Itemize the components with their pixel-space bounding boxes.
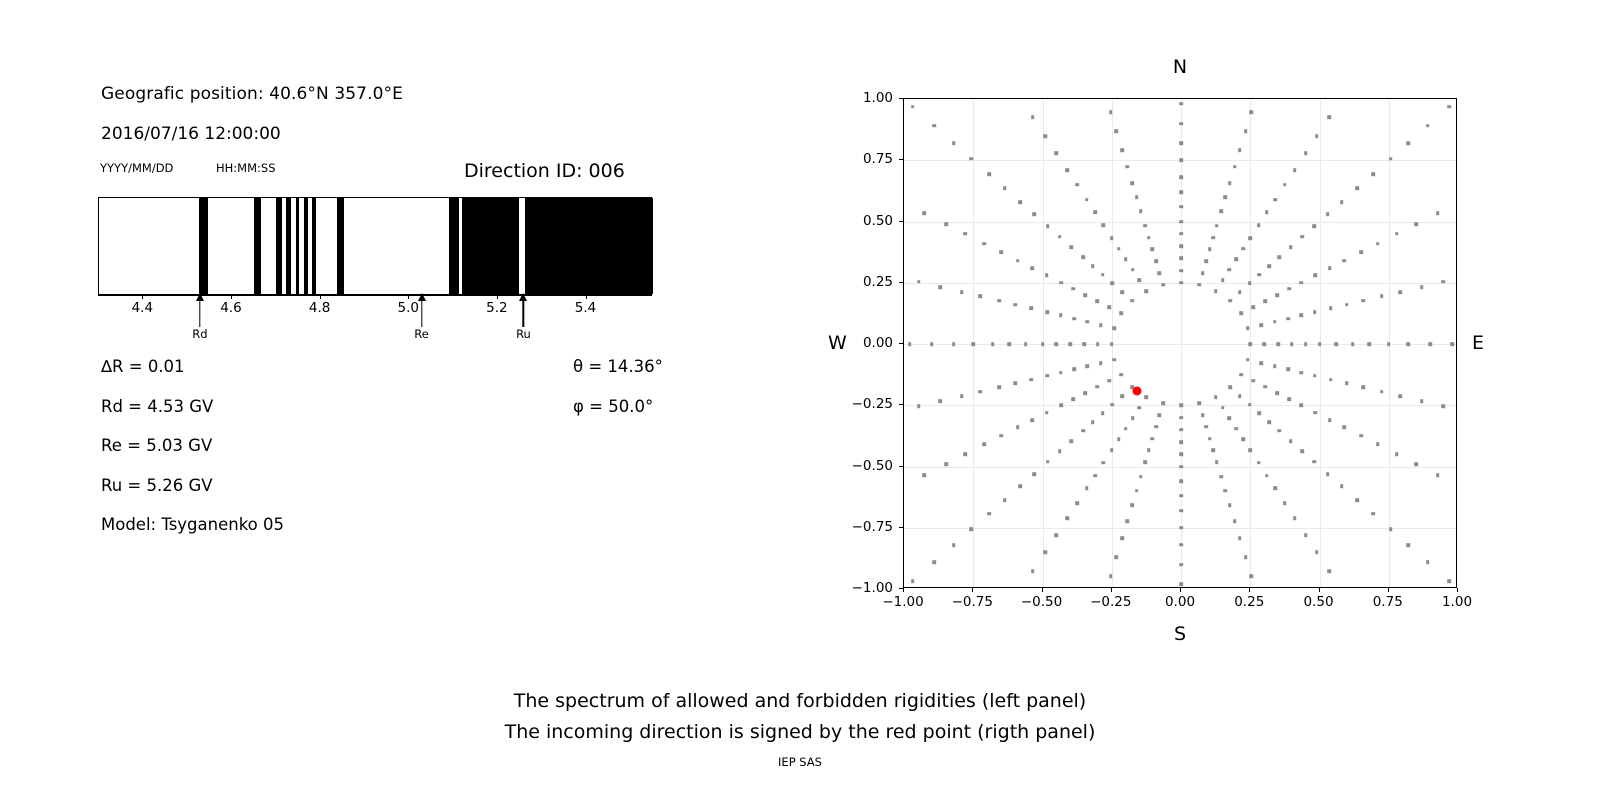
direction-dot [1117, 247, 1121, 251]
direction-dot [1112, 358, 1116, 362]
x-tick-label: 0.25 [1234, 594, 1264, 610]
direction-dot [1119, 373, 1123, 377]
direction-dot [1289, 439, 1293, 443]
direction-dot [1238, 394, 1242, 398]
direction-dot [1030, 418, 1034, 422]
direction-dot [1215, 224, 1219, 228]
x-tick [408, 295, 409, 299]
direction-dot [1058, 235, 1062, 239]
direction-dot [1045, 274, 1049, 278]
direction-dot [1016, 426, 1020, 430]
direction-dot [1312, 460, 1316, 464]
compass-label-south: S [1174, 623, 1186, 645]
y-tick-label: −0.50 [841, 458, 893, 474]
polar-scatter-plot [903, 98, 1457, 588]
direction-dot [1130, 181, 1134, 185]
marker-label: Ru [516, 327, 531, 341]
y-tick [899, 98, 903, 99]
marker-label: Rd [192, 327, 207, 341]
x-tick-label: 4.4 [132, 300, 153, 316]
x-tick-label: −1.00 [882, 594, 923, 610]
direction-dot [952, 141, 956, 145]
direction-dot [1143, 461, 1147, 465]
direction-dot [1228, 386, 1232, 390]
direction-dot [970, 157, 974, 161]
direction-dot [1248, 403, 1252, 407]
y-tick-label: 0.75 [841, 151, 893, 167]
direction-dot [1238, 536, 1242, 540]
direction-dot [1204, 259, 1208, 263]
direction-dot [1145, 395, 1149, 399]
direction-dot [1179, 269, 1183, 273]
direction-dot [1248, 448, 1252, 452]
forbidden-band [286, 198, 291, 294]
direction-dot [1329, 307, 1333, 311]
direction-dot [1179, 465, 1183, 469]
direction-dot [1179, 403, 1183, 407]
direction-dot [1318, 342, 1322, 346]
direction-dot [1395, 452, 1399, 456]
direction-dot [1019, 484, 1023, 488]
direction-dot [952, 543, 956, 547]
direction-dot [1259, 323, 1263, 327]
direction-dot [1043, 134, 1047, 138]
gridline [1181, 99, 1182, 587]
direction-dot [1355, 186, 1359, 190]
direction-dot [1448, 105, 1452, 109]
direction-dot [1013, 382, 1017, 386]
direction-dot [963, 232, 967, 236]
direction-dot [1032, 212, 1036, 216]
direction-dot [1267, 264, 1271, 268]
direction-dot [1249, 574, 1253, 578]
direction-dot [1031, 569, 1035, 573]
direction-dot [1238, 290, 1242, 294]
direction-dot [1301, 235, 1305, 239]
direction-dot [1030, 266, 1034, 270]
direction-dot [1314, 274, 1318, 278]
direction-dot [1075, 183, 1079, 187]
direction-dot [1258, 411, 1262, 415]
footer-organization: IEP SAS [0, 755, 1600, 769]
forbidden-band [304, 198, 308, 294]
direction-dot [1248, 236, 1252, 240]
direction-dot [1099, 323, 1103, 327]
direction-dot [1086, 320, 1090, 324]
direction-dot [1361, 299, 1365, 303]
direction-dot [1329, 378, 1333, 382]
direction-dot [1125, 520, 1129, 524]
direction-dot [944, 462, 948, 466]
direction-dot [1293, 516, 1297, 520]
x-tick-label: 0.75 [1373, 594, 1403, 610]
direction-dot [1082, 342, 1086, 346]
direction-dot [1143, 224, 1147, 228]
direction-dot [1441, 280, 1445, 284]
incoming-direction-point [1132, 386, 1141, 395]
direction-dot [1029, 307, 1033, 311]
direction-dot [1327, 115, 1331, 119]
x-tick [586, 295, 587, 299]
direction-dot [1228, 503, 1232, 507]
marker-label: Re [414, 327, 429, 341]
direction-dot [1380, 295, 1384, 299]
direction-dot [1221, 279, 1225, 283]
direction-dot [1215, 461, 1219, 465]
forbidden-band [276, 198, 281, 294]
direction-dot [1345, 382, 1349, 386]
direction-dot [1071, 397, 1075, 401]
direction-dot [1389, 157, 1393, 161]
forbidden-band [296, 198, 300, 294]
direction-dot [1248, 342, 1252, 346]
direction-dot [1287, 287, 1291, 291]
compass-label-east: E [1472, 332, 1484, 354]
datetime-label: 2016/07/16 12:00:00 [101, 124, 281, 144]
direction-dot [1066, 516, 1070, 520]
direction-dot [1376, 443, 1380, 447]
direction-dot [1019, 200, 1023, 204]
direction-dot [1059, 281, 1063, 285]
direction-dot [1257, 461, 1261, 465]
direction-dot [1112, 326, 1116, 330]
y-tick [899, 466, 903, 467]
direction-dot [1101, 273, 1105, 277]
direction-dot [1304, 533, 1308, 537]
direction-dot [1125, 165, 1129, 169]
direction-dot [917, 280, 921, 284]
direction-dot [1262, 342, 1266, 346]
direction-dot [1158, 271, 1162, 275]
direction-dot [932, 560, 936, 564]
direction-dot [1179, 158, 1183, 162]
direction-dot [999, 250, 1003, 254]
direction-dot [1328, 418, 1332, 422]
x-tick [142, 295, 143, 299]
direction-dot [1197, 283, 1201, 287]
direction-dot [1259, 361, 1263, 365]
direction-dot [1244, 555, 1248, 559]
direction-dot [1086, 364, 1090, 368]
direction-dot [1286, 317, 1290, 321]
direction-dot [1211, 449, 1215, 453]
direction-dot [1179, 452, 1183, 456]
direction-dot [1301, 450, 1305, 454]
direction-dot [1083, 391, 1087, 395]
direction-dot [1371, 512, 1375, 516]
direction-id-label: Direction ID: 006 [464, 160, 625, 182]
x-tick [1319, 588, 1320, 592]
direction-dot [1406, 141, 1410, 145]
direction-dot [1276, 342, 1280, 346]
direction-dot [1359, 434, 1363, 438]
arrow-up-icon [418, 293, 426, 301]
direction-dot [1120, 290, 1124, 294]
direction-dot [1031, 115, 1035, 119]
gridline [904, 344, 1456, 345]
direction-dot [1016, 259, 1020, 263]
direction-dot [1361, 385, 1365, 389]
direction-dot [1131, 416, 1135, 420]
direction-dot [1436, 473, 1440, 477]
direction-dot [1251, 379, 1255, 383]
direction-dot [1145, 289, 1149, 293]
direction-dot [1214, 289, 1218, 293]
x-tick-label: 4.6 [220, 300, 241, 316]
direction-dot [1426, 124, 1430, 128]
x-tick-label: 5.0 [397, 300, 418, 316]
direction-dot [1110, 342, 1114, 346]
forbidden-band [337, 198, 344, 294]
forbidden-band [254, 198, 261, 294]
direction-dot [1204, 425, 1208, 429]
direction-dot [1085, 198, 1089, 202]
direction-dot [1233, 165, 1237, 169]
arrow-up-icon [519, 293, 527, 301]
direction-dot [1096, 342, 1100, 346]
direction-dot [1429, 342, 1433, 346]
direction-dot [1273, 486, 1277, 490]
direction-dot [1342, 426, 1346, 430]
direction-dot [1283, 183, 1287, 187]
direction-dot [1124, 427, 1128, 431]
direction-dot [1242, 247, 1246, 251]
figure-caption: The spectrum of allowed and forbidden ri… [0, 686, 1600, 748]
direction-dot [1045, 374, 1049, 378]
direction-dot [1161, 401, 1165, 405]
y-tick-label: 0.25 [841, 274, 893, 290]
direction-dot [1179, 102, 1183, 106]
direction-dot [1239, 312, 1243, 316]
direction-dot [1135, 489, 1139, 493]
forbidden-band [199, 198, 208, 294]
x-tick [1388, 588, 1389, 592]
direction-dot [1013, 303, 1017, 307]
direction-dot [1179, 122, 1183, 126]
direction-dot [1273, 320, 1277, 324]
direction-dot [1334, 342, 1338, 346]
direction-dot [1326, 472, 1330, 476]
direction-dot [1179, 526, 1183, 530]
direction-dot [1154, 425, 1158, 429]
direction-dot [1130, 299, 1134, 303]
y-tick-label: −0.75 [841, 519, 893, 535]
direction-dot [1233, 520, 1237, 524]
direction-dot [1326, 212, 1330, 216]
direction-map-panel: N S W E −1.00−0.75−0.50−0.250.000.250.50… [820, 40, 1520, 660]
direction-dot [1007, 342, 1011, 346]
direction-dot [908, 342, 912, 346]
direction-dot [1083, 293, 1087, 297]
direction-dot [997, 385, 1001, 389]
direction-dot [1257, 223, 1261, 227]
direction-dot [1179, 509, 1183, 513]
direction-dot [1115, 129, 1119, 133]
spectrum-bar-container [98, 197, 652, 295]
direction-dot [979, 390, 983, 394]
direction-dot [1179, 190, 1183, 194]
direction-dot [1120, 148, 1124, 152]
forbidden-band [312, 198, 316, 294]
direction-dot [1380, 390, 1384, 394]
direction-dot [1068, 342, 1072, 346]
direction-dot [1055, 151, 1059, 155]
direction-dot [1120, 536, 1124, 540]
direction-dot [1235, 257, 1239, 261]
direction-dot [1046, 460, 1050, 464]
direction-dot [1179, 205, 1183, 209]
direction-dot [1258, 273, 1262, 277]
direction-dot [1029, 378, 1033, 382]
direction-dot [1120, 394, 1124, 398]
direction-dot [1043, 550, 1047, 554]
direction-dot [1179, 232, 1183, 236]
spectrum-x-axis: 4.44.64.85.05.25.4RdReRu [98, 295, 652, 355]
direction-dot [1081, 429, 1085, 433]
x-tick [972, 588, 973, 592]
direction-dot [1251, 305, 1255, 309]
direction-dot [1228, 268, 1232, 272]
direction-dot [1441, 404, 1445, 408]
direction-dot [1055, 533, 1059, 537]
direction-dot [1124, 257, 1128, 261]
direction-dot [1179, 582, 1183, 586]
direction-dot [1249, 110, 1253, 114]
direction-dot [1107, 305, 1111, 309]
direction-dot [991, 342, 995, 346]
direction-dot [1290, 342, 1294, 346]
direction-dot [1139, 210, 1143, 214]
direction-dot [1107, 379, 1111, 383]
direction-dot [1179, 440, 1183, 444]
direction-dot [1179, 176, 1183, 180]
direction-dot [1355, 498, 1359, 502]
y-tick-label: −0.25 [841, 396, 893, 412]
axis-line [98, 295, 652, 296]
parameter-row: Ru = 5.26 GV [101, 476, 213, 495]
direction-dot [987, 512, 991, 516]
direction-dot [1436, 211, 1440, 215]
direction-dot [1130, 503, 1134, 507]
direction-dot [1315, 550, 1319, 554]
direction-dot [1070, 245, 1074, 249]
direction-dot [1399, 394, 1403, 398]
direction-dot [1228, 181, 1232, 185]
direction-dot [1147, 236, 1151, 240]
direction-dot [963, 452, 967, 456]
direction-dot [1024, 342, 1028, 346]
direction-dot [1095, 385, 1099, 389]
direction-dot [1289, 245, 1293, 249]
direction-dot [1179, 543, 1183, 547]
rigidity-spectrum-panel: Geografic position: 40.6°N 357.0°E 2016/… [0, 0, 760, 660]
direction-dot [1117, 438, 1121, 442]
x-tick-label: −0.50 [1021, 594, 1062, 610]
direction-dot [1201, 271, 1205, 275]
direction-dot [1387, 342, 1391, 346]
direction-dot [1109, 574, 1113, 578]
direction-dot [1208, 248, 1212, 252]
direction-dot [1342, 259, 1346, 263]
x-tick [903, 588, 904, 592]
parameter-row: ∆R = 0.01 [101, 357, 185, 376]
direction-dot [1059, 314, 1063, 318]
direction-dot [1046, 224, 1050, 228]
direction-dot [1081, 256, 1085, 260]
forbidden-band [449, 198, 459, 294]
direction-dot [1179, 563, 1183, 567]
direction-dot [1351, 342, 1355, 346]
direction-dot [1059, 371, 1063, 375]
direction-dot [982, 443, 986, 447]
direction-dot [1201, 413, 1205, 417]
x-tick-label: 0.00 [1165, 594, 1195, 610]
direction-dot [1179, 141, 1183, 145]
direction-dot [1041, 342, 1045, 346]
direction-dot [1368, 342, 1372, 346]
direction-dot [1093, 211, 1097, 215]
direction-dot [1070, 439, 1074, 443]
parameter-row: Model: Tsyganenko 05 [101, 515, 284, 534]
direction-dot [1151, 437, 1155, 441]
direction-dot [997, 299, 1001, 303]
arrow-up-icon [196, 293, 204, 301]
x-tick [1249, 588, 1250, 592]
direction-dot [1058, 450, 1062, 454]
direction-dot [1359, 250, 1363, 254]
direction-dot [1179, 220, 1183, 224]
x-tick-label: 4.8 [309, 300, 330, 316]
direction-dot [1273, 198, 1277, 202]
direction-dot [1138, 406, 1142, 410]
direction-dot [1420, 285, 1424, 289]
direction-dot [1340, 200, 1344, 204]
direction-dot [1151, 248, 1155, 252]
direction-dot [1224, 195, 1228, 199]
forbidden-band [462, 198, 519, 294]
x-tick [1111, 588, 1112, 592]
direction-dot [1228, 299, 1232, 303]
direction-dot [1095, 299, 1099, 303]
direction-dot [1059, 403, 1063, 407]
direction-dot [1158, 413, 1162, 417]
direction-dot [1420, 399, 1424, 403]
parameter-row: φ = 50.0° [573, 397, 653, 416]
direction-dot [1211, 236, 1215, 240]
time-format-hint: HH:MM:SS [216, 161, 276, 175]
caption-line-2: The incoming direction is signed by the … [0, 717, 1600, 748]
y-tick-label: 1.00 [841, 90, 893, 106]
direction-dot [1277, 429, 1281, 433]
direction-dot [1293, 168, 1297, 172]
direction-dot [1066, 168, 1070, 172]
direction-dot [1045, 411, 1049, 415]
y-tick [899, 343, 903, 344]
direction-dot [1235, 427, 1239, 431]
x-tick-label: 0.50 [1303, 594, 1333, 610]
direction-dot [960, 290, 964, 294]
direction-dot [982, 242, 986, 246]
direction-dot [1111, 403, 1115, 407]
direction-dot [1246, 358, 1250, 362]
direction-dot [1263, 385, 1267, 389]
x-tick-label: −0.25 [1090, 594, 1131, 610]
direction-dot [1286, 368, 1290, 372]
y-tick [899, 282, 903, 283]
direction-dot [1075, 501, 1079, 505]
direction-dot [1340, 484, 1344, 488]
direction-dot [1138, 279, 1142, 283]
